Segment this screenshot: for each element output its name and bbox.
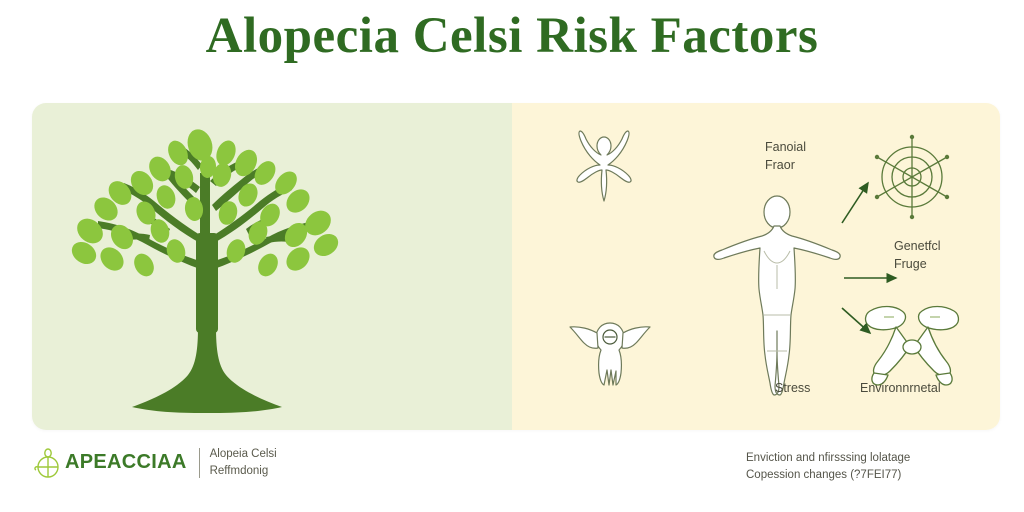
brand-tagline: Alopeia Celsi Reffmdonig [210,446,277,479]
left-panel-family-tree [32,103,512,430]
page-title: Alopecia Celsi Risk Factors [0,8,1024,64]
label-stress: Stress [775,379,810,397]
brand-lockup: APEACCIAA Alopeia Celsi Reffmdonig [33,446,277,479]
human-body-figure [712,193,842,398]
family-tree-illustration [50,113,370,423]
footer: APEACCIAA Alopeia Celsi Reffmdonig Envic… [0,440,1024,512]
arrow-to-radial-cell [842,183,868,223]
content-card: Fanoial Fraor Genetfcl Fruge Stress Envi… [32,103,1000,430]
chromosome-icon [860,301,964,387]
raised-arms-figure-icon [568,123,640,205]
label-genetic-factor: Genetfcl Fruge [894,237,941,273]
winged-figure-icon [566,315,654,389]
brand-divider [199,448,200,478]
footer-note: Enviction and nfirsssing lolatage Copess… [746,450,910,485]
circle-cross-emblem [33,447,63,479]
label-environmental: Environnrnetal [860,379,941,397]
brand-name: APEACCIAA [65,451,187,474]
radial-cell-icon [866,131,958,223]
label-familial-factor: Fanoial Fraor [765,138,806,174]
right-panel-risk-diagram: Fanoial Fraor Genetfcl Fruge Stress Envi… [512,103,1000,430]
